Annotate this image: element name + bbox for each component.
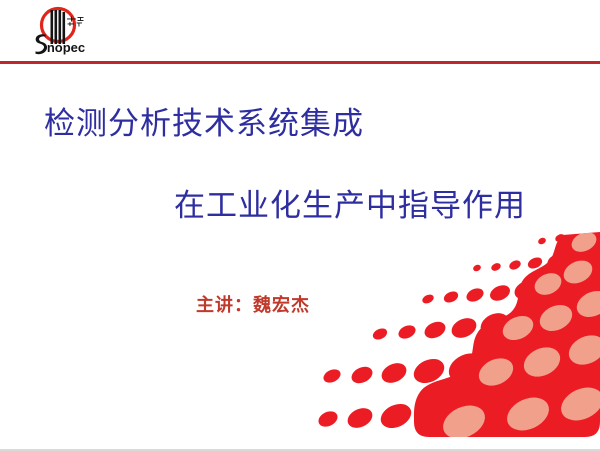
presentation-slide: nopec [0, 0, 600, 451]
wedge-highlight-dots [438, 232, 600, 445]
decorative-dot-pattern [310, 232, 600, 447]
sinopec-logo-graphic: nopec [28, 6, 100, 56]
slide-title-line-1: 检测分析技术系统集成 [44, 104, 364, 144]
solid-red-wedge [310, 232, 600, 447]
halftone-dots [316, 233, 588, 437]
logo-wordmark: nopec [47, 40, 85, 55]
halftone-wedge-graphic [310, 232, 600, 447]
sinopec-logo: nopec [28, 6, 100, 56]
logo-derrick-bars [51, 10, 66, 44]
slide-title-line-2: 在工业化生产中指导作用 [174, 186, 526, 226]
header-divider [0, 61, 600, 64]
presenter-label: 主讲：魏宏杰 [196, 293, 310, 317]
